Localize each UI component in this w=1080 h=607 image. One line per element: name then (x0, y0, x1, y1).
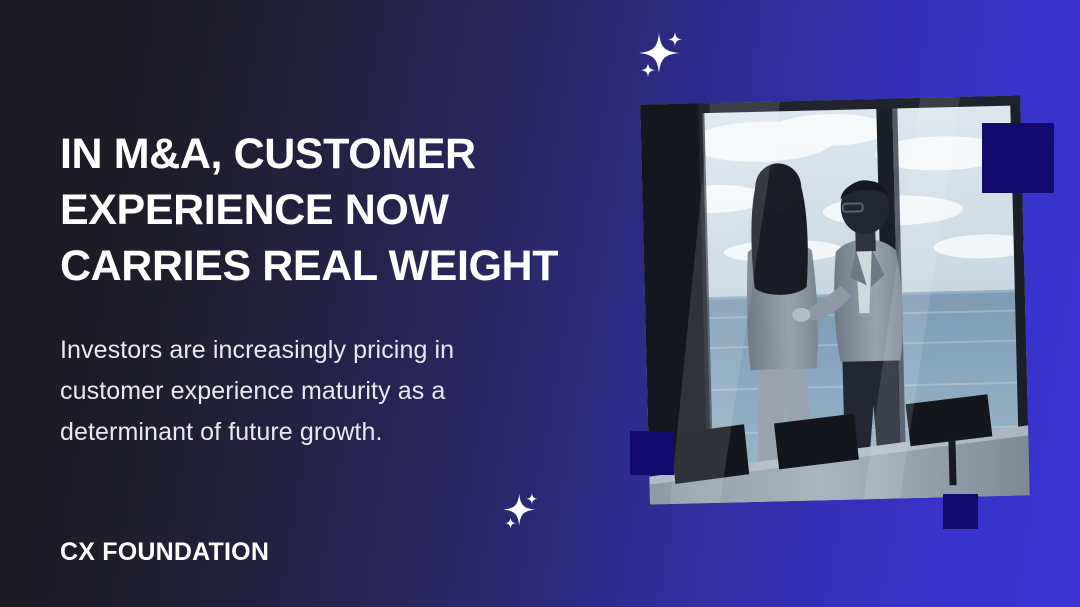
page-title: In M&A, customer experience now carries … (60, 126, 560, 294)
sparkle-icon (497, 489, 543, 540)
accent-square-top-right (982, 123, 1054, 193)
accent-square-left (630, 431, 674, 475)
accent-square-bottom (943, 494, 978, 529)
promotional-slide: In M&A, customer experience now carries … (0, 0, 1080, 607)
hero-photo (640, 95, 1030, 504)
subheading-text: Investors are increasingly pricing in cu… (60, 330, 530, 453)
brand-logo-text: CX Foundation (60, 538, 269, 567)
sparkle-icon (631, 27, 689, 90)
